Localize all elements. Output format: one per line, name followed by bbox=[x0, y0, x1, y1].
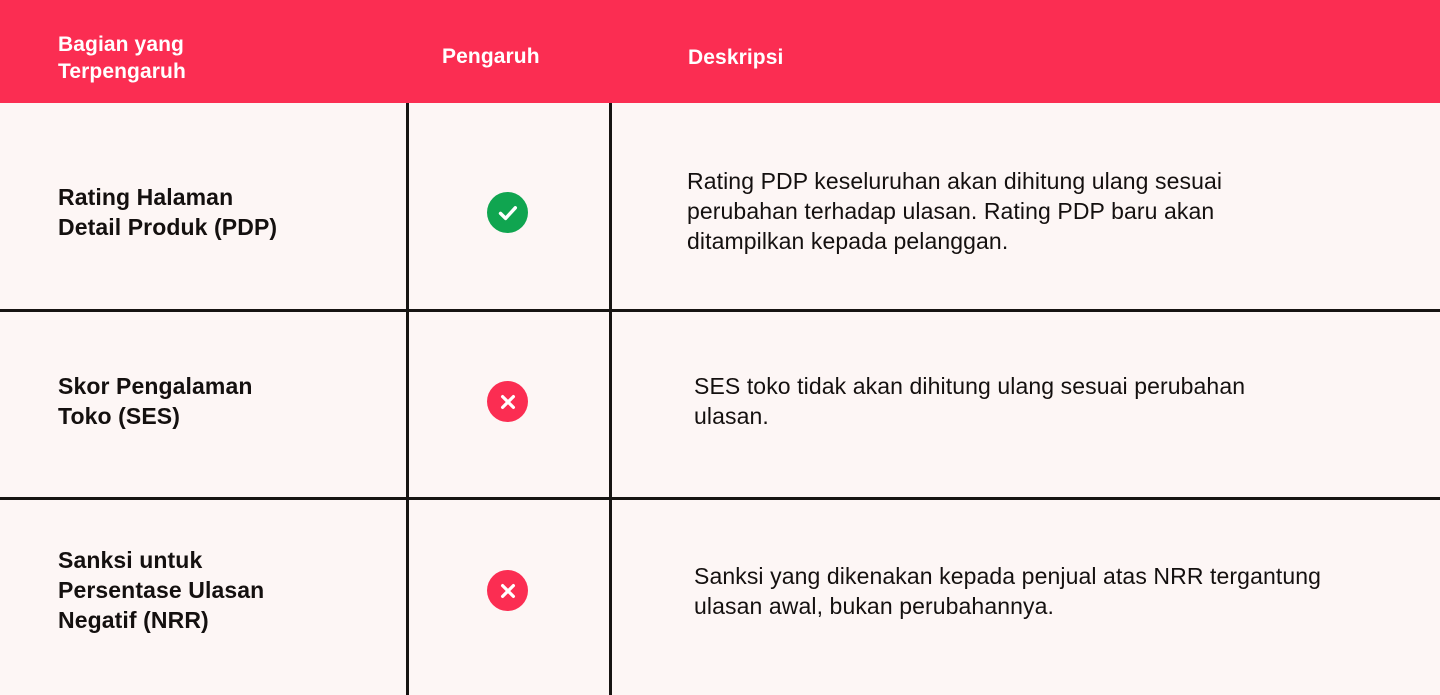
row-label-line2: Toko (SES) bbox=[58, 403, 180, 429]
column-header-affected-section: Bagian yangTerpengaruh bbox=[58, 31, 358, 85]
row-label-line1: Skor Pengalaman bbox=[58, 373, 253, 399]
column-header-affected-line1: Bagian yang bbox=[58, 33, 184, 56]
check-circle-icon bbox=[487, 192, 528, 233]
table-row: Skor PengalamanToko (SES) bbox=[58, 371, 388, 431]
row-label-line1: Rating Halaman bbox=[58, 184, 233, 210]
column-divider-first bbox=[406, 103, 409, 695]
x-circle-icon bbox=[487, 570, 528, 611]
row-label-line3: Negatif (NRR) bbox=[58, 607, 209, 633]
column-header-affected-line2: Terpengaruh bbox=[58, 60, 186, 83]
row-description: Rating PDP keseluruhan akan dihitung ula… bbox=[687, 166, 1307, 256]
row-label-line2: Persentase Ulasan bbox=[58, 577, 264, 603]
column-header-impact: Pengaruh bbox=[442, 43, 540, 70]
impact-comparison-table: Bagian yangTerpengaruh Pengaruh Deskrips… bbox=[0, 0, 1440, 695]
row-description: SES toko tidak akan dihitung ulang sesua… bbox=[694, 371, 1314, 431]
row-divider-2 bbox=[0, 497, 1440, 500]
column-header-description: Deskripsi bbox=[688, 44, 783, 71]
row-divider-1 bbox=[0, 309, 1440, 312]
row-description: Sanksi yang dikenakan kepada penjual ata… bbox=[694, 561, 1334, 621]
table-row: Rating HalamanDetail Produk (PDP) bbox=[58, 182, 388, 242]
column-divider-second bbox=[609, 103, 612, 695]
table-row: Sanksi untukPersentase UlasanNegatif (NR… bbox=[58, 545, 388, 635]
row-label-line2: Detail Produk (PDP) bbox=[58, 214, 277, 240]
x-circle-icon bbox=[487, 381, 528, 422]
row-label-line1: Sanksi untuk bbox=[58, 547, 202, 573]
table-header-row: Bagian yangTerpengaruh Pengaruh Deskrips… bbox=[0, 0, 1440, 103]
